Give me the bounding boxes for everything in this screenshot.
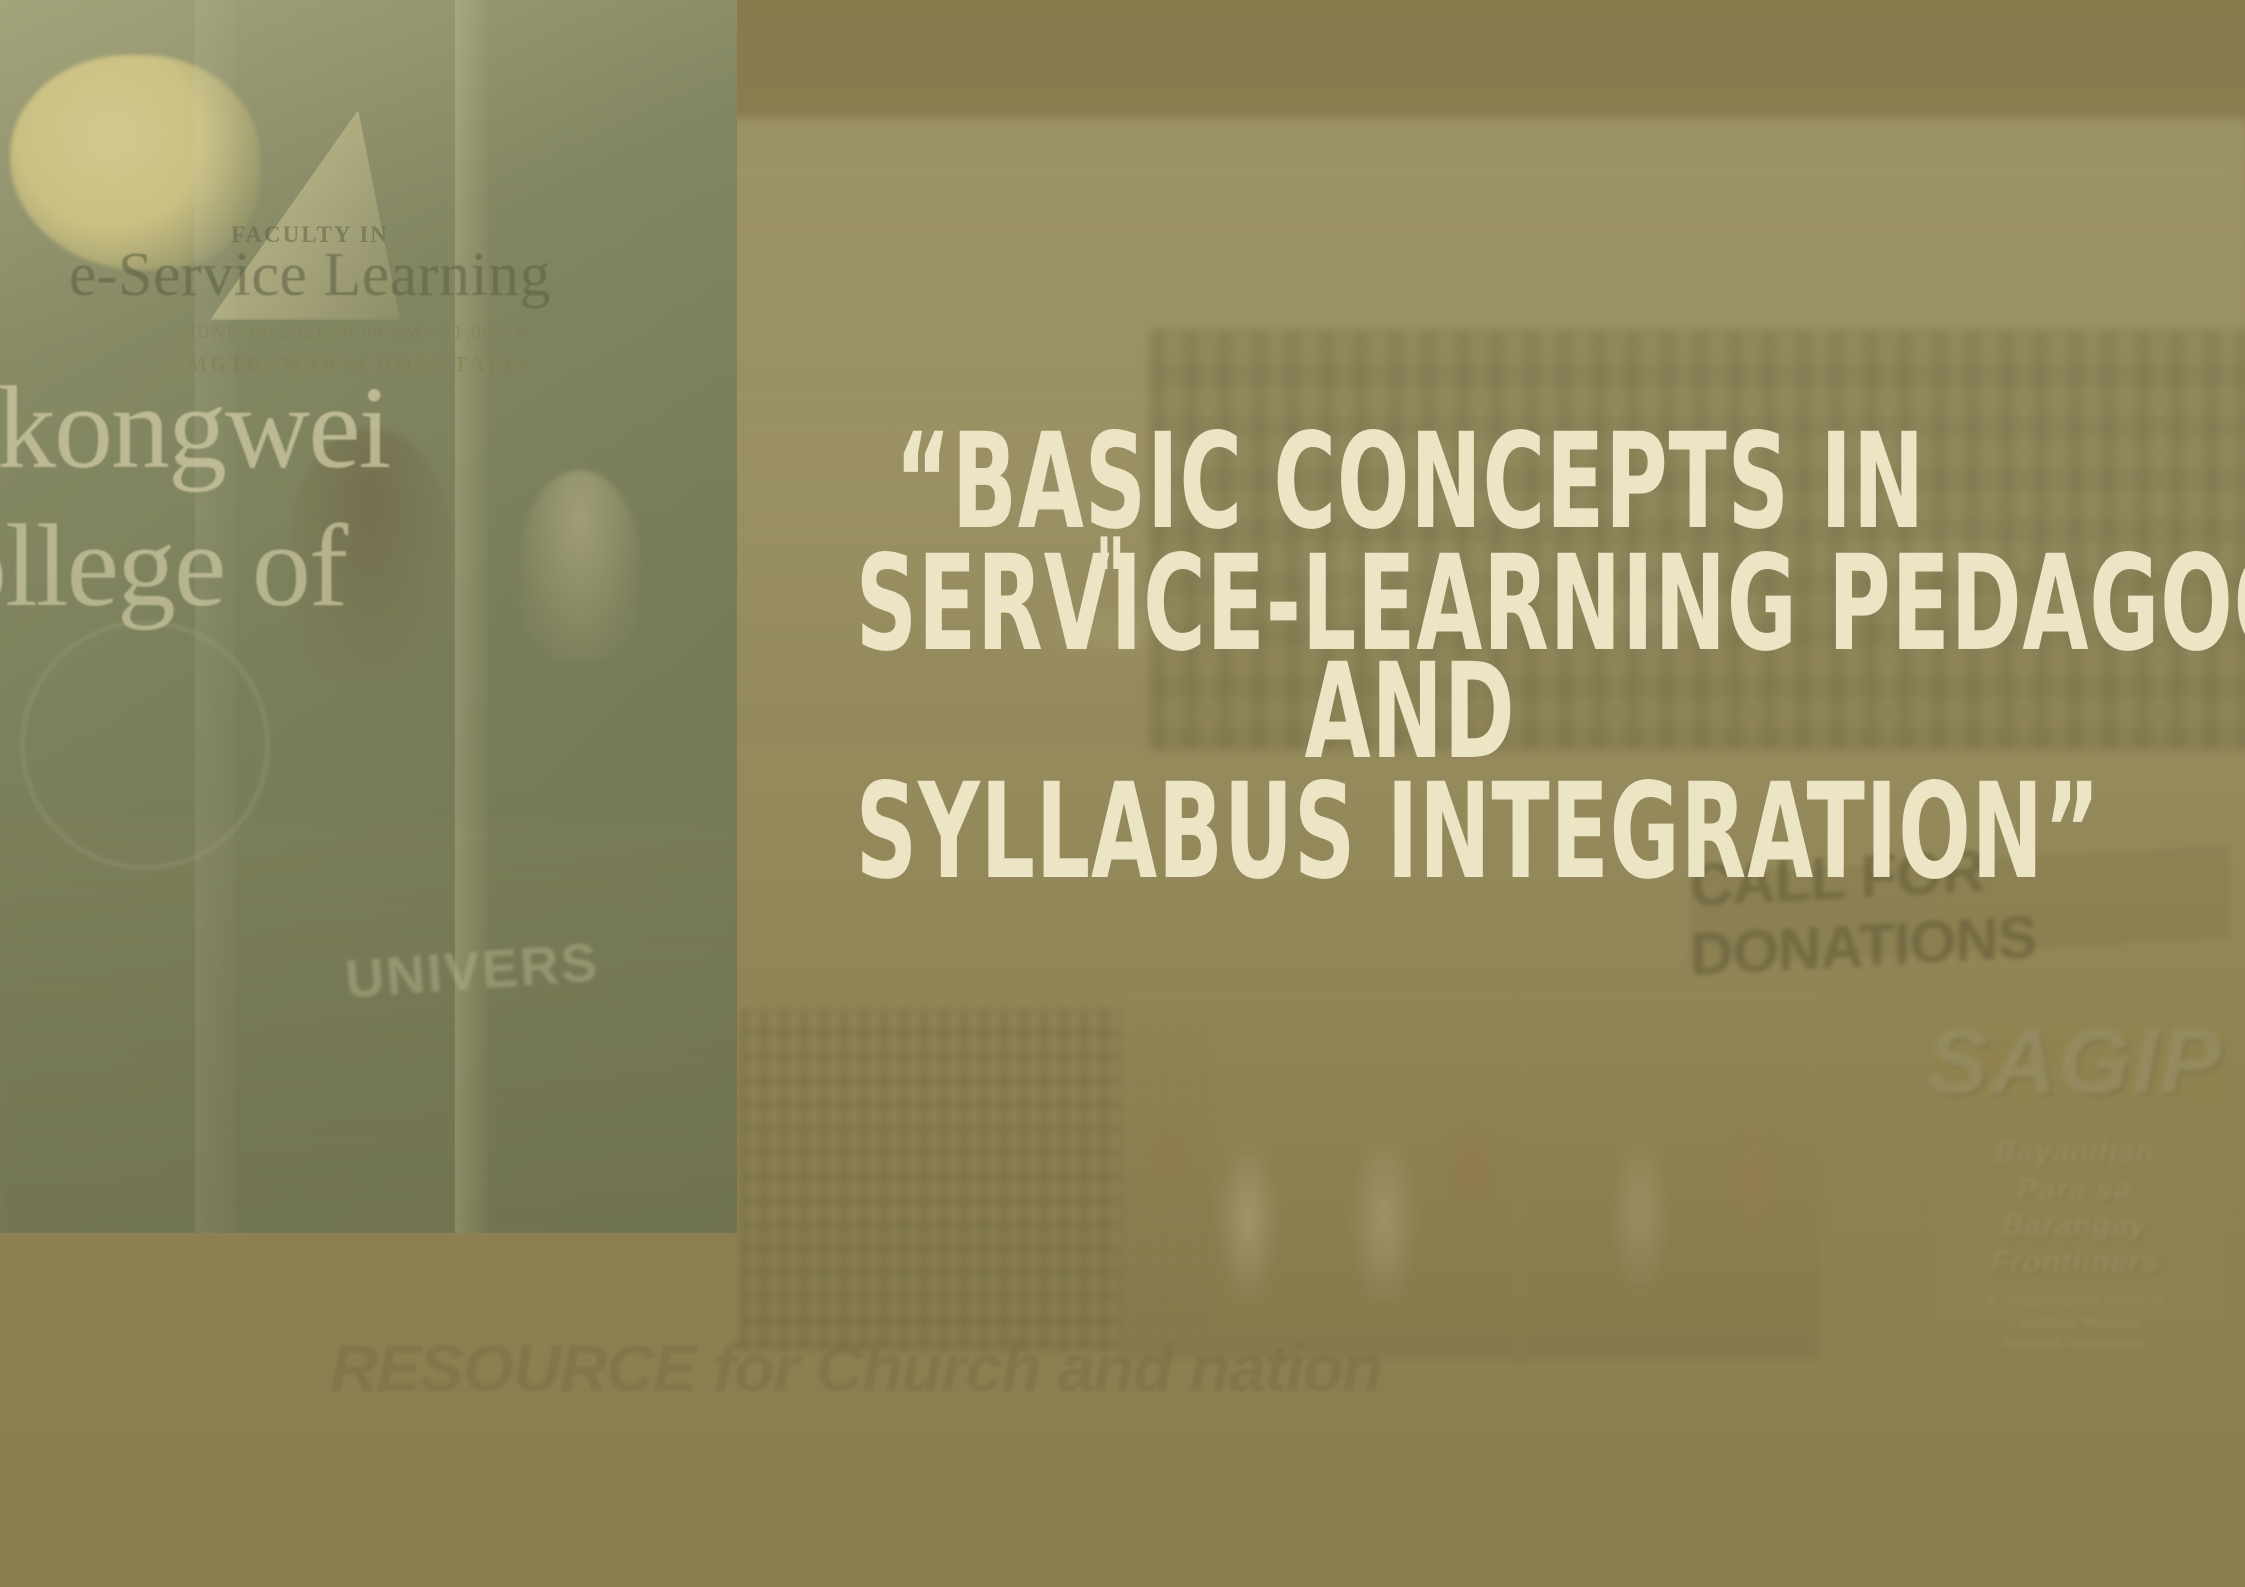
- inset-photo-panel: FACULTY IN e-Service Learning JUNE 28, 2…: [0, 0, 737, 1233]
- slide-canvas: CALL FOR DONATIONS SAGIP Bayanihan Para …: [0, 0, 2245, 1587]
- title-line-3: AND: [856, 654, 1965, 770]
- slide-title: “BASIC CONCEPTS IN SERVICE-LEARNING PEDA…: [640, 424, 2180, 891]
- title-line-1: “BASIC CONCEPTS IN: [856, 424, 1965, 540]
- slide-footer: College of Engineering DE LA SALLE UNIVE…: [0, 1227, 2245, 1587]
- inset-photo-tint: [0, 0, 737, 1233]
- title-line-4: SYLLABUS INTEGRATION”: [856, 774, 1965, 890]
- title-orphan-quote-mark: ": [1095, 524, 1126, 644]
